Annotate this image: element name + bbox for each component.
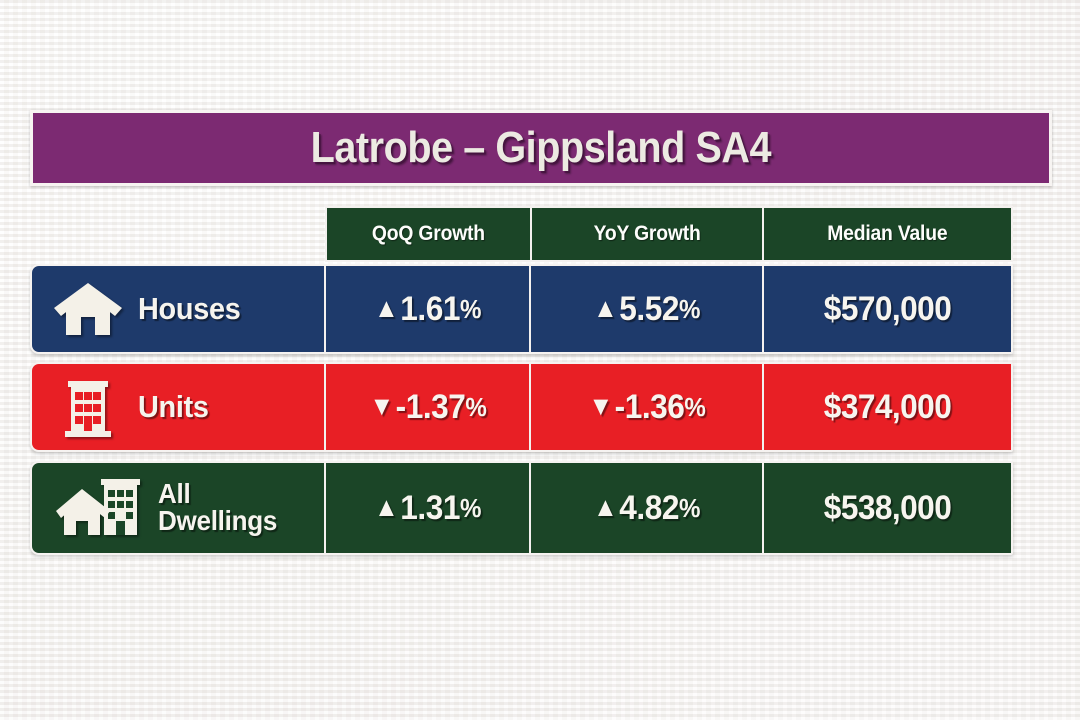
trend-up-icon: ▲ <box>374 492 398 523</box>
column-header-qoq: QoQ Growth <box>327 208 532 260</box>
table-row: Units ▼-1.37% ▼-1.36% $374,000 <box>30 362 1013 452</box>
cell-qoq-houses: ▲1.61% <box>326 266 531 352</box>
cell-median-value: $538,000 <box>824 489 951 528</box>
title-banner: Latrobe – Gippsland SA4 <box>30 110 1052 186</box>
row-label-line2: Dwellings <box>158 505 277 536</box>
table-row: Houses ▲1.61% ▲5.52% $570,000 <box>30 264 1013 354</box>
cell-qoq-value: 1.61 <box>400 290 460 329</box>
cell-yoy-units: ▼-1.36% <box>531 364 764 450</box>
cell-yoy-houses: ▲5.52% <box>531 266 764 352</box>
column-header-qoq-label: QoQ Growth <box>372 222 485 246</box>
cell-yoy-unit: % <box>679 294 700 325</box>
column-header-median: Median Value <box>764 208 1011 260</box>
column-header-yoy: YoY Growth <box>532 208 765 260</box>
trend-down-icon: ▼ <box>369 391 393 422</box>
cell-qoq-all-dwellings: ▲1.31% <box>326 463 531 553</box>
cell-yoy-unit: % <box>684 392 705 423</box>
trend-up-icon: ▲ <box>593 492 617 523</box>
cell-qoq-unit: % <box>460 493 481 524</box>
cell-yoy-all-dwellings: ▲4.82% <box>531 463 764 553</box>
cell-median-units: $374,000 <box>764 364 1011 450</box>
cell-qoq-units: ▼-1.37% <box>326 364 531 450</box>
row-label-units: Units <box>32 364 326 450</box>
cell-qoq-unit: % <box>465 392 486 423</box>
house-and-apartment-icon <box>52 473 144 543</box>
house-icon <box>52 277 124 341</box>
page-title: Latrobe – Gippsland SA4 <box>311 123 772 173</box>
cell-yoy-value: 4.82 <box>619 489 679 528</box>
cell-yoy-value: 5.52 <box>619 290 679 329</box>
trend-up-icon: ▲ <box>593 293 617 324</box>
cell-yoy-unit: % <box>679 493 700 524</box>
cell-qoq-unit: % <box>460 294 481 325</box>
trend-down-icon: ▼ <box>588 391 612 422</box>
table-row: AllDwellings ▲1.31% ▲4.82% $538,000 <box>30 461 1013 555</box>
cell-median-value: $374,000 <box>824 388 951 427</box>
cell-median-all-dwellings: $538,000 <box>764 463 1011 553</box>
apartment-icon <box>52 375 124 439</box>
cell-yoy-value: -1.36 <box>614 388 684 427</box>
cell-median-value: $570,000 <box>824 290 951 329</box>
trend-up-icon: ▲ <box>374 293 398 324</box>
cell-qoq-value: -1.37 <box>395 388 465 427</box>
property-stats-card: Latrobe – Gippsland SA4 QoQ Growth YoY G… <box>0 0 1080 720</box>
row-label-text: Houses <box>138 294 240 323</box>
column-header-yoy-label: YoY Growth <box>594 222 701 246</box>
cell-qoq-value: 1.31 <box>400 489 460 528</box>
column-header-median-label: Median Value <box>828 222 948 246</box>
row-label-text: AllDwellings <box>158 481 277 534</box>
row-label-text: Units <box>138 392 209 421</box>
table-header-row: QoQ Growth YoY Growth Median Value <box>325 206 1013 262</box>
row-label-houses: Houses <box>32 266 326 352</box>
cell-median-houses: $570,000 <box>764 266 1011 352</box>
row-label-all-dwellings: AllDwellings <box>32 463 326 553</box>
